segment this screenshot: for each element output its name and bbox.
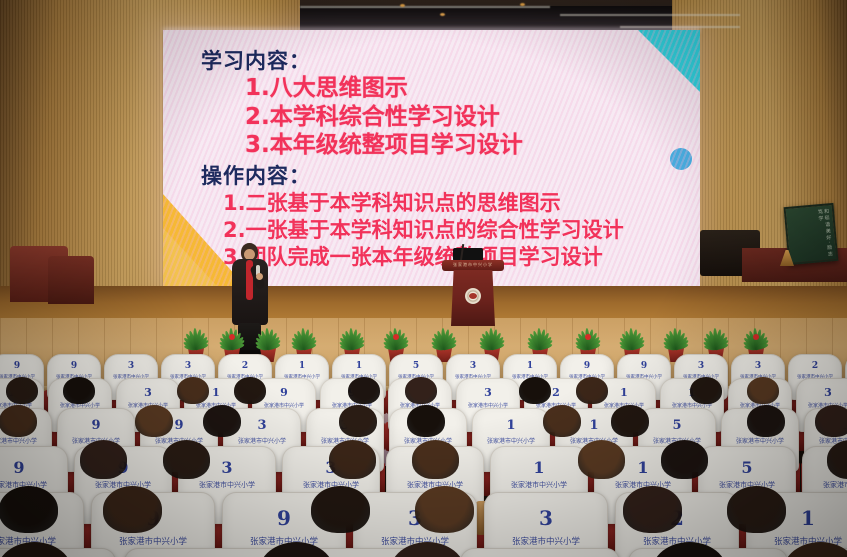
seat-number: 5 — [390, 361, 442, 371]
audience-member-head — [203, 405, 241, 437]
chalkboard-text: 和 和 谐 美 好 · 励 志 笃 学 — [789, 208, 833, 259]
audience-member-head — [80, 440, 127, 478]
slide-item-2-2: 2.一张基于本学科知识点的综合性学习设计 — [223, 217, 686, 244]
ceiling-spotlight — [400, 4, 405, 7]
seat-number: 2 — [219, 361, 271, 371]
slide-item-1-2: 2.本学科综合性学习设计 — [245, 103, 686, 131]
audience-member-head — [234, 377, 266, 404]
seat-number: 3 — [117, 386, 179, 399]
podium: 张家港市中兴小学 — [447, 260, 499, 326]
slide-heading-1: 学习内容： — [201, 48, 686, 74]
audience-member-head — [407, 405, 445, 437]
audience-member-head — [747, 405, 785, 437]
ceiling-light-strip — [300, 6, 550, 8]
seat-school-label: 张家港市中兴小学 — [722, 436, 798, 445]
audience-member-head — [576, 377, 608, 404]
slide-heading-2: 操作内容： — [201, 163, 686, 189]
seat-number: 9 — [0, 361, 43, 371]
audience-member-head — [177, 377, 209, 404]
audience-member-head — [661, 440, 708, 478]
audience-member-head — [415, 486, 475, 533]
seat-number: 9 — [618, 361, 670, 371]
audience-member-head — [690, 377, 722, 404]
auditorium-photo: 学习内容： 1.八大思维图示 2.本学科综合性学习设计 3.本年级统整项目学习设… — [0, 0, 847, 557]
seat-number: 1 — [473, 418, 549, 433]
seat-number: 3 — [485, 506, 607, 530]
audience-member-head — [412, 440, 459, 478]
audience-seating: 9张家港市中兴小学9张家港市中兴小学3张家港市中兴小学3张家港市中兴小学2张家港… — [0, 330, 847, 557]
seat-school-label: 张家港市中兴小学 — [491, 480, 587, 490]
audience-member-head — [747, 377, 779, 404]
seat-cover: 5张家港市中兴小学 — [124, 548, 284, 557]
podium-school-name: 张家港市中兴小学 — [442, 262, 504, 268]
audience-member-head — [163, 440, 210, 478]
audience-member-head — [103, 486, 163, 533]
audience-member-head — [311, 486, 371, 533]
audience-member-head — [543, 405, 581, 437]
seat-number: 9 — [561, 361, 613, 371]
ceiling-light-strip — [560, 14, 740, 16]
audience-member-head — [623, 486, 683, 533]
audience-member-head — [578, 440, 625, 478]
seat-school-label: 张家港市中兴小学 — [485, 535, 607, 547]
audience-member-head — [727, 486, 787, 533]
seat-cover: 1张家港市中兴小学 — [460, 548, 620, 557]
audience-member-head — [6, 377, 38, 404]
seat-number: 3 — [457, 386, 519, 399]
slide-item-1-3: 3.本年级统整项目学习设计 — [245, 131, 686, 159]
audience-member-head — [329, 440, 376, 478]
seat-number: 2 — [789, 361, 841, 371]
audience-member-head — [815, 405, 847, 437]
seat-number: 3 — [162, 361, 214, 371]
seat-school-label: 张家港市中兴小学 — [473, 436, 549, 445]
seat-number: 3 — [105, 361, 157, 371]
chalkboard-sign: 和 和 谐 美 好 · 励 志 笃 学 — [784, 203, 839, 265]
audience-member-head — [63, 377, 95, 404]
seat-number: 3 — [447, 361, 499, 371]
seat-number: 1 — [276, 361, 328, 371]
presenter-hand — [256, 273, 263, 280]
seat-school-label: 张家港市中兴小学 — [803, 480, 847, 490]
seat-number: 9 — [0, 458, 67, 477]
audience-member-head — [0, 405, 37, 437]
seat-school-label: 张家港市中兴小学 — [179, 480, 275, 490]
audience-member-head — [405, 377, 437, 404]
seat-number: 3 — [675, 361, 727, 371]
seat-number: 3 — [732, 361, 784, 371]
seat-number: 1 — [333, 361, 385, 371]
seat-number: 5 — [699, 458, 795, 477]
seat-number: 1 — [491, 458, 587, 477]
audience-member-head — [348, 377, 380, 404]
seat-number: 1 — [504, 361, 556, 371]
seat-number: 9 — [58, 418, 134, 433]
slide-item-2-1: 1.二张基于本学科知识点的思维图示 — [223, 190, 686, 217]
school-crest-icon — [465, 288, 481, 304]
seat-number: 9 — [48, 361, 100, 371]
seat-school-label: 张家港市中兴小学 — [0, 436, 51, 445]
ceiling-spotlight — [520, 3, 525, 6]
audience-member-head — [339, 405, 377, 437]
audience-member-head — [611, 405, 649, 437]
ceiling-spotlight — [440, 13, 445, 16]
audience-member-head — [519, 377, 551, 404]
slide-item-1-1: 1.八大思维图示 — [245, 74, 686, 102]
seat-number: 3 — [797, 386, 847, 399]
seat-number: 5 — [639, 418, 715, 433]
audience-member-head — [0, 486, 58, 533]
seat-school-label: 张家港市中兴小学 — [92, 535, 214, 547]
side-chair-left-2 — [48, 256, 94, 304]
seat-school-label: 张家港市中兴小学 — [224, 436, 300, 445]
audience-member-head — [135, 405, 173, 437]
